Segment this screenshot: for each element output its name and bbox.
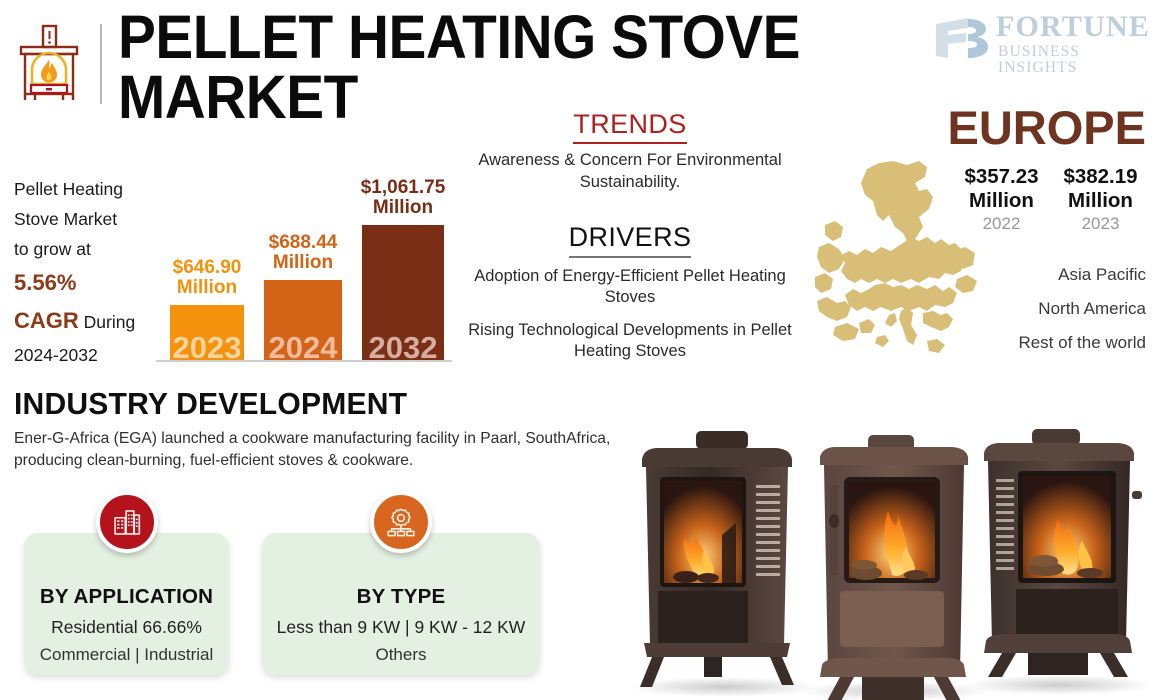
cagr-line-2: Stove Market (14, 204, 164, 234)
region-list: Asia Pacific North America Rest of the w… (886, 258, 1146, 360)
europe-stat-unit: Million (955, 189, 1048, 213)
segment-card-by-type: BY TYPE Less than 9 KW | 9 KW - 12 KW Ot… (262, 533, 540, 675)
region-item: North America (886, 292, 1146, 326)
market-size-bar-chart: 2023$646.90Million2024$688.44Million2032… (152, 178, 452, 362)
bar-year-label: 2024 (264, 332, 342, 363)
fortune-business-insights-logo: FORTUNE BUSINESS INSIGHTS (934, 12, 1146, 68)
building-icon (96, 491, 158, 553)
drivers-item-0: Adoption of Energy-Efficient Pellet Heat… (462, 266, 798, 309)
bar-year-label: 2032 (362, 332, 444, 363)
gear-hierarchy-icon (370, 491, 432, 553)
drivers-item-1: Rising Technological Developments in Pel… (462, 320, 798, 363)
three-pellet-stoves-photo (604, 415, 1160, 700)
europe-stat-value: $382.19 (1054, 165, 1147, 189)
brand-name: FORTUNE (996, 12, 1150, 42)
europe-stat-2022: $357.23 Million 2022 (955, 165, 1048, 236)
brand-subtitle: BUSINESS INSIGHTS (998, 44, 1146, 75)
infographic-page: PELLET HEATING STOVE MARKET FORTUNE BUSI… (0, 0, 1160, 700)
cagr-period: 2024-2032 (14, 340, 164, 370)
cagr-line-1: Pellet Heating (14, 174, 164, 204)
segment-line-2: Commercial | Industrial (24, 645, 229, 665)
industry-development-body: Ener-G-Africa (EGA) launched a cookware … (14, 428, 614, 473)
drivers-heading: DRIVERS (569, 221, 692, 257)
europe-stat-year: 2023 (1054, 213, 1147, 236)
europe-heading: EUROPE (806, 104, 1146, 151)
bar-value-label: $688.44Million (250, 233, 356, 274)
segment-card-by-application: BY APPLICATION Residential 66.66% Commer… (24, 533, 229, 675)
cagr-rate: 5.56% (14, 270, 76, 295)
segment-title: BY APPLICATION (24, 585, 229, 609)
cagr-block: Pellet Heating Stove Market to grow at 5… (14, 174, 164, 370)
bar-year-label: 2023 (170, 332, 244, 363)
cagr-during: During (84, 312, 136, 332)
fb-monogram-icon (934, 16, 990, 60)
industry-development-heading: INDUSTRY DEVELOPMENT (14, 386, 407, 422)
europe-stats: $357.23 Million 2022 $382.19 Million 202… (955, 165, 1147, 236)
bar-group-2032: 2032$1,061.75Million (362, 225, 444, 360)
europe-stat-value: $357.23 (955, 165, 1048, 189)
bar-value-label: $1,061.75Million (348, 178, 458, 219)
europe-stat-2023: $382.19 Million 2023 (1054, 165, 1147, 236)
bar-group-2024: 2024$688.44Million (264, 280, 342, 360)
bar-group-2023: 2023$646.90Million (170, 305, 244, 360)
trends-heading: TRENDS (573, 108, 686, 144)
header-divider (100, 24, 102, 104)
segment-line-2: Others (262, 645, 540, 665)
europe-stat-unit: Million (1054, 189, 1147, 213)
region-item: Rest of the world (886, 326, 1146, 360)
trends-item-0: Awareness & Concern For Environmental Su… (462, 150, 798, 193)
bar-value-label: $646.90Million (156, 258, 258, 299)
europe-stat-year: 2022 (955, 213, 1048, 236)
trends-drivers-block: TRENDS Awareness & Concern For Environme… (462, 108, 798, 362)
pellet-stove-icon (14, 22, 84, 104)
region-item: Asia Pacific (886, 258, 1146, 292)
segment-line-1: Residential 66.66% (24, 617, 229, 638)
segment-line-1: Less than 9 KW | 9 KW - 12 KW (262, 617, 540, 638)
segment-title: BY TYPE (262, 585, 540, 609)
cagr-word: CAGR (14, 308, 79, 333)
cagr-line-3: to grow at (14, 234, 164, 264)
